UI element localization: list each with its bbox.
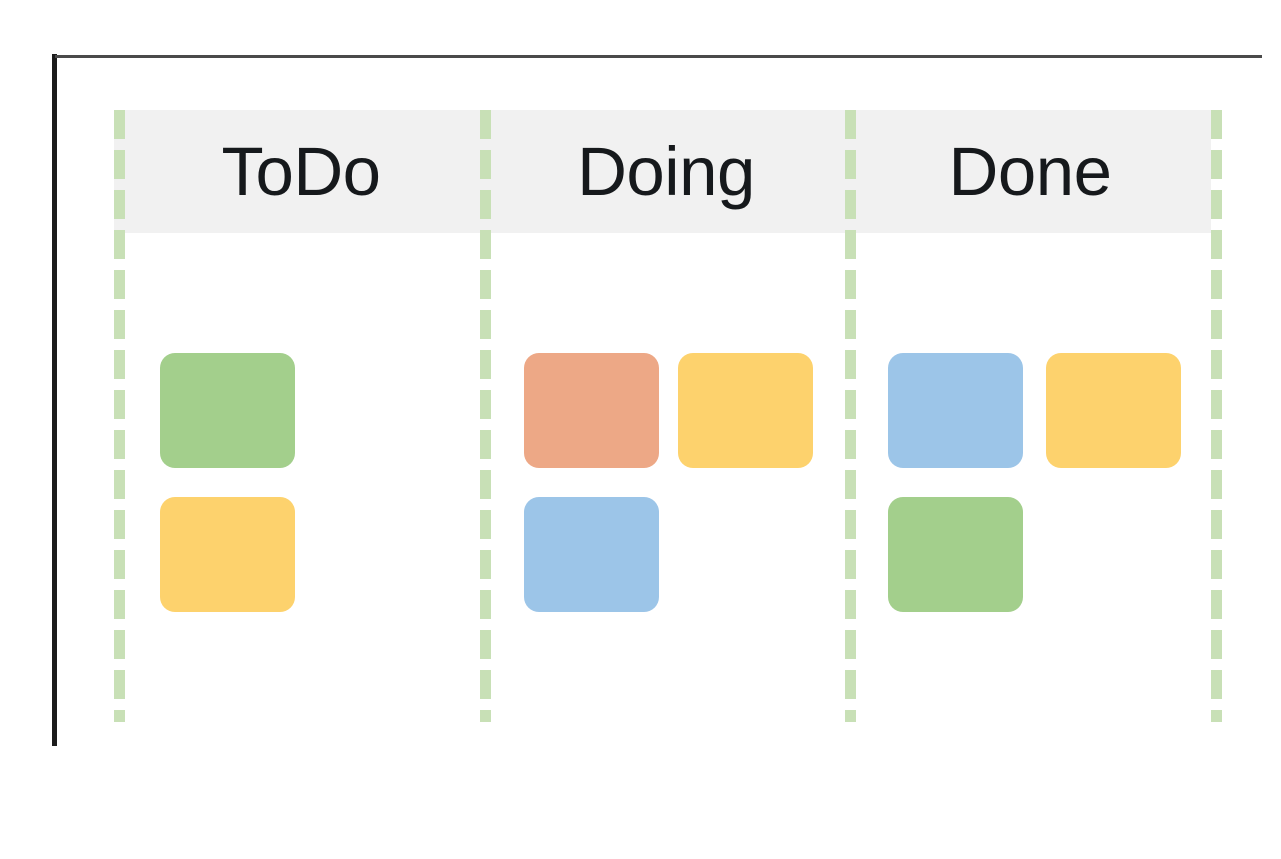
card[interactable] (1046, 353, 1181, 468)
column-divider-right (1211, 110, 1222, 722)
card[interactable] (524, 497, 659, 612)
column-title-done: Done (849, 110, 1211, 233)
card[interactable] (524, 353, 659, 468)
kanban-board: ToDo Doing Done (0, 0, 1281, 859)
column-title-todo: ToDo (119, 110, 483, 233)
card[interactable] (160, 497, 295, 612)
card[interactable] (888, 497, 1023, 612)
card[interactable] (888, 353, 1023, 468)
column-title-doing: Doing (484, 110, 848, 233)
card[interactable] (678, 353, 813, 468)
card[interactable] (160, 353, 295, 468)
board-left-border (52, 54, 57, 746)
board-top-border (55, 55, 1262, 58)
